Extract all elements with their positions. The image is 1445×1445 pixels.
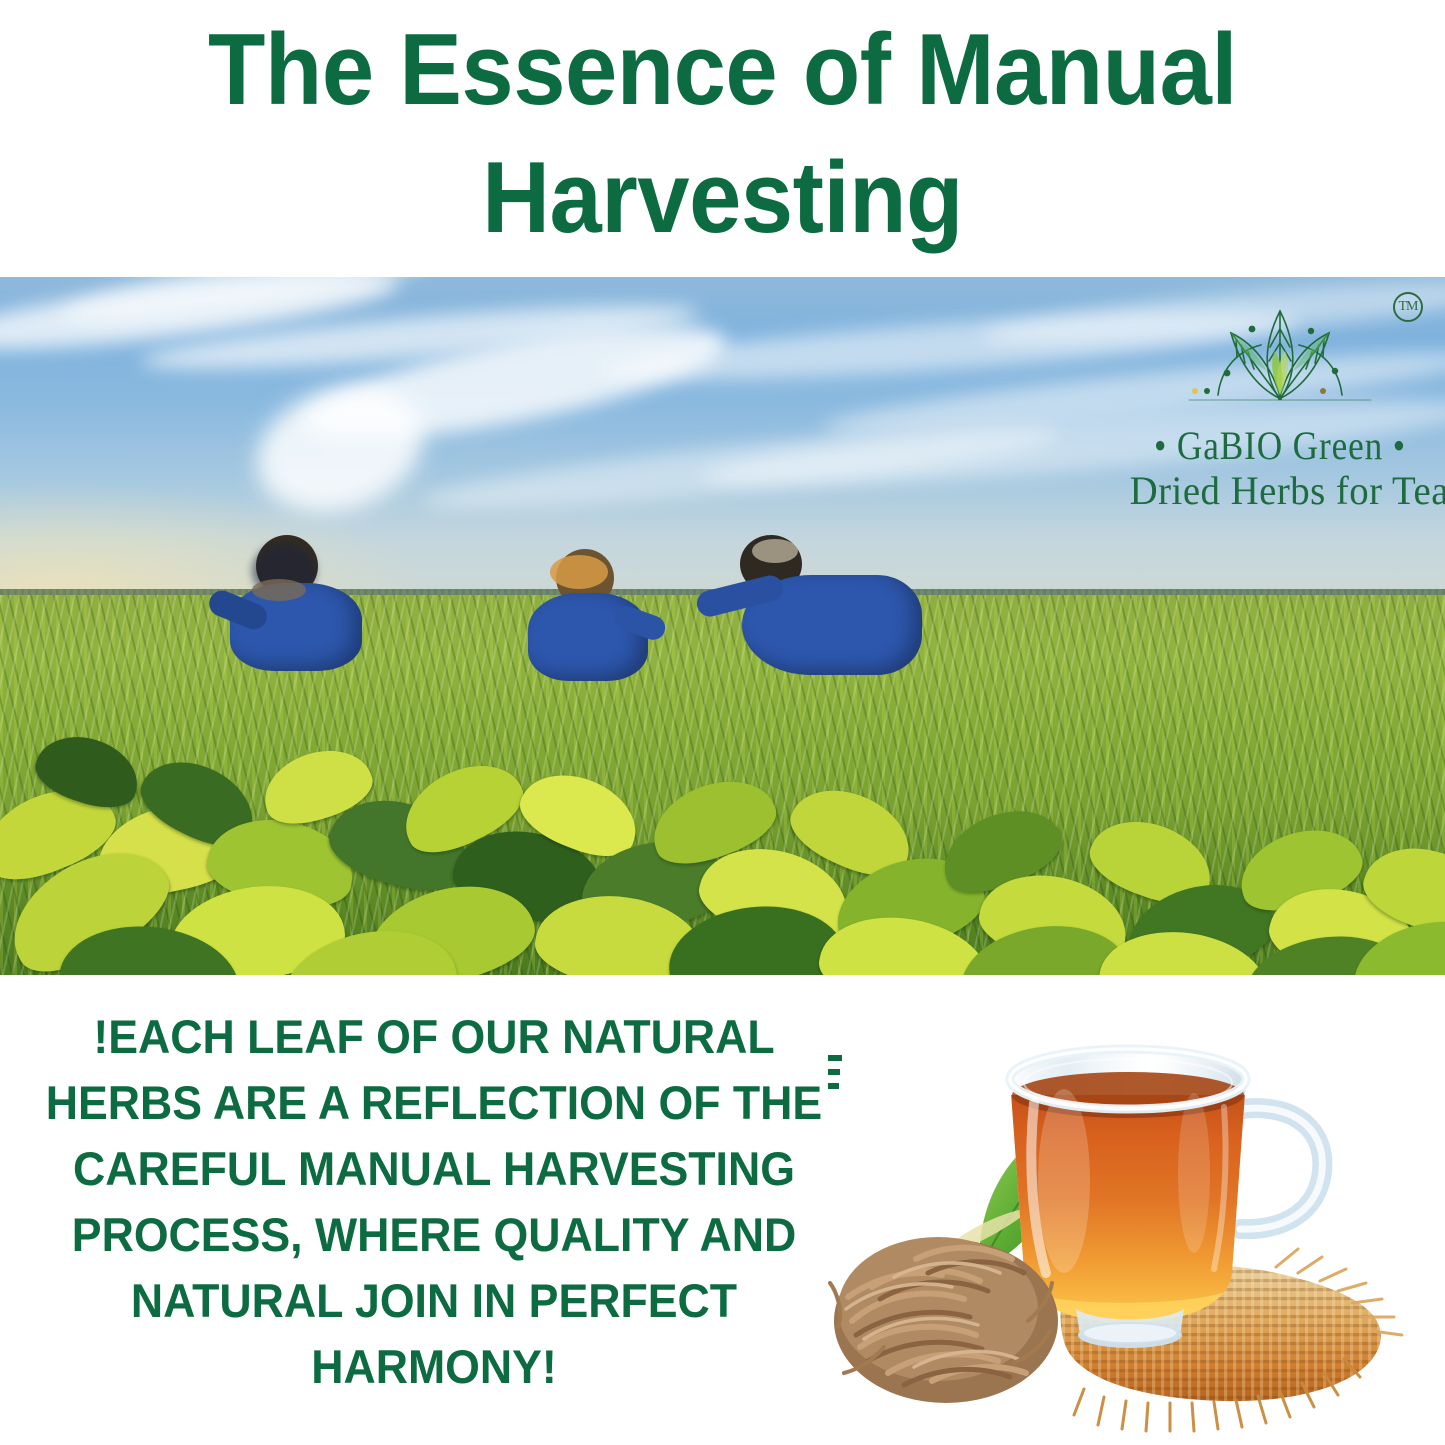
leaf-tick-marks <box>828 1055 842 1089</box>
product-image <box>828 991 1445 1436</box>
tea-picker <box>222 535 402 665</box>
tea-picker <box>518 549 678 679</box>
trademark-icon: TM <box>1393 292 1423 322</box>
brand-tagline: Dried Herbs for Tea <box>1130 468 1431 514</box>
bottom-section: !EACH LEAF OF OUR NATURAL HERBS ARE A RE… <box>0 975 1445 1445</box>
lotus-leaf-icon <box>1165 299 1395 424</box>
foreground-tea-leaves <box>0 675 1445 975</box>
marketing-blurb: !EACH LEAF OF OUR NATURAL HERBS ARE A RE… <box>37 1004 831 1400</box>
title-block: The Essence of Manual Harvesting <box>0 6 1445 268</box>
hero-photo: TM <box>0 277 1445 975</box>
brand-logo[interactable]: TM <box>1125 299 1435 534</box>
page-title: The Essence of Manual Harvesting <box>148 6 1297 262</box>
brand-name: • GaBIO Green • <box>1144 424 1417 468</box>
poster-canvas: The Essence of Manual Harvesting <box>0 0 1445 1445</box>
tea-picker <box>718 535 948 675</box>
